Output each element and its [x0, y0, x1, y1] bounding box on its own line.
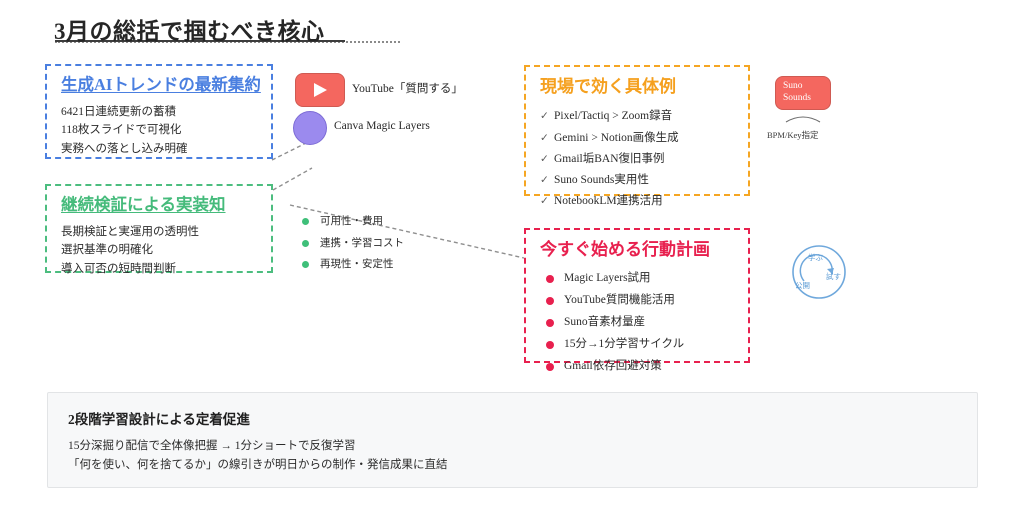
card-trend[interactable]: 生成AIトレンドの最新集約 6421日連続更新の蓄積 118枚スライドで可視化 …: [45, 64, 273, 159]
check-icon: ✓: [540, 129, 554, 148]
card-examples-title: 現場で効く具体例: [540, 76, 734, 97]
list-item: YouTube質問機能活用: [540, 290, 734, 312]
list-item: ✓ Gmail垢BAN復旧事例: [540, 149, 734, 170]
list-item: Gmail依存回避対策: [540, 356, 734, 378]
suno-sounds-badge[interactable]: Suno Sounds: [775, 76, 831, 110]
list-item-label: Magic Layers試用: [564, 268, 651, 290]
canva-label: Canva Magic Layers: [334, 120, 430, 132]
check-icon: ✓: [540, 171, 554, 190]
list-item-label: YouTube質問機能活用: [564, 290, 675, 312]
cycle-label-try: 試す: [826, 271, 841, 282]
check-icon: ✓: [540, 107, 554, 126]
list-item: ✓ Pixel/Tactiq > Zoom録音: [540, 106, 734, 127]
list-item-label: 連携・学習コスト: [320, 233, 404, 255]
list-item-label: Suno音素材量産: [564, 312, 645, 334]
card-validation[interactable]: 継続検証による実装知 長期検証と実運用の透明性 選択基準の明確化 導入可否の短時…: [45, 184, 273, 273]
youtube-label: YouTube「質問する」: [352, 80, 463, 96]
suno-badge-line2: Sounds: [783, 93, 830, 105]
list-item: ✓ Gemini > Notion画像生成: [540, 128, 734, 149]
suno-badge-line1: Suno: [783, 81, 830, 93]
list-item-label: 可用性・費用: [320, 211, 383, 233]
card-trend-line: 6421日連続更新の蓄積: [61, 103, 257, 122]
summary-panel: 2段階学習設計による定着促進 15分深掘り配信で全体像把握 → 1分ショートで反…: [47, 392, 978, 488]
connector-trend-to-canva: [272, 143, 306, 160]
criteria-list: 可用性・費用 連携・学習コスト 再現性・安定性: [302, 211, 404, 276]
list-item: Suno音素材量産: [540, 312, 734, 334]
page-title: 3月の総括で掴むべき核心: [54, 12, 325, 46]
bullet-icon: [302, 261, 309, 268]
cycle-label-learn: 学ぶ: [808, 252, 823, 263]
card-action-title: 今すぐ始める行動計画: [540, 239, 734, 260]
bullet-icon: [302, 218, 309, 225]
bullet-icon: [302, 240, 309, 247]
card-trend-title: 生成AIトレンドの最新集約: [61, 75, 257, 96]
connector-validation-to-upper: [273, 168, 312, 190]
check-icon: ✓: [540, 192, 554, 211]
list-item-label: Pixel/Tactiq > Zoom録音: [554, 106, 672, 127]
summary-line: 「何を使い、何を捨てるか」の線引きが明日からの制作・発信成果に直結: [68, 456, 977, 475]
youtube-play-icon[interactable]: [295, 73, 345, 107]
list-item: ✓ Suno Sounds実用性: [540, 170, 734, 191]
list-item: 15分→1分学習サイクル: [540, 334, 734, 356]
list-item-label: Gemini > Notion画像生成: [554, 128, 679, 149]
card-validation-line: 導入可否の短時間判断: [61, 260, 257, 279]
list-item-label: NotebookLM連携活用: [554, 191, 663, 212]
summary-line: 15分深掘り配信で全体像把握 → 1分ショートで反復学習: [68, 437, 977, 456]
suno-arc-icon: [786, 117, 820, 122]
bullet-icon: [546, 319, 554, 327]
bullet-icon: [546, 363, 554, 371]
list-item-label: 15分→1分学習サイクル: [564, 334, 684, 356]
canva-circle-icon[interactable]: [293, 111, 327, 145]
card-trend-line: 118枚スライドで可視化: [61, 121, 257, 140]
cycle-label-share: 公開: [795, 280, 810, 291]
list-item-label: Suno Sounds実用性: [554, 170, 649, 191]
list-item: 連携・学習コスト: [302, 233, 404, 255]
card-validation-title: 継続検証による実装知: [61, 195, 257, 216]
list-item-label: Gmail依存回避対策: [564, 356, 662, 378]
list-item: 再現性・安定性: [302, 254, 404, 276]
list-item-label: 再現性・安定性: [320, 254, 394, 276]
play-triangle-icon: [314, 83, 327, 97]
card-validation-line: 選択基準の明確化: [61, 241, 257, 260]
summary-title: 2段階学習設計による定着促進: [68, 408, 977, 428]
card-examples[interactable]: 現場で効く具体例 ✓ Pixel/Tactiq > Zoom録音 ✓ Gemin…: [524, 65, 750, 196]
list-item-label: Gmail垢BAN復旧事例: [554, 149, 665, 170]
card-action[interactable]: 今すぐ始める行動計画 Magic Layers試用 YouTube質問機能活用 …: [524, 228, 750, 363]
bullet-icon: [546, 297, 554, 305]
suno-caption: BPM/Key指定: [767, 129, 818, 141]
bullet-icon: [546, 275, 554, 283]
list-item: ✓ NotebookLM連携活用: [540, 191, 734, 212]
card-validation-line: 長期検証と実運用の透明性: [61, 223, 257, 242]
check-icon: ✓: [540, 150, 554, 169]
list-item: 可用性・費用: [302, 211, 404, 233]
bullet-icon: [546, 341, 554, 349]
list-item: Magic Layers試用: [540, 268, 734, 290]
card-trend-line: 実務への落とし込み明確: [61, 140, 257, 159]
